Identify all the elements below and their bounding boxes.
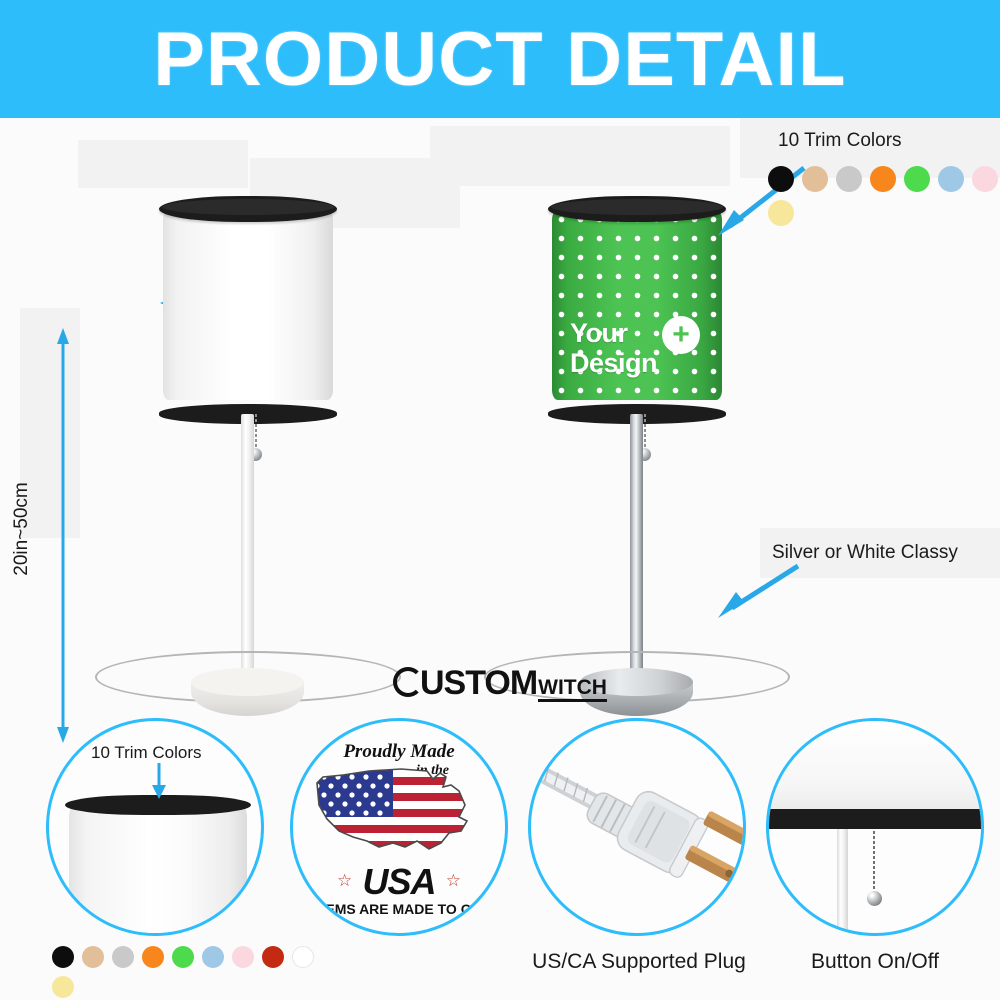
swatch-green[interactable] <box>172 946 194 968</box>
page-title: PRODUCT DETAIL <box>153 16 846 103</box>
feature-circle <box>766 718 984 936</box>
trim-colors-swatch-row-2 <box>768 200 794 226</box>
usa-map-flag-icon <box>309 761 489 859</box>
feature-caption: Button On/Off <box>766 950 984 974</box>
white-lamp <box>163 196 333 636</box>
lampshade-crop <box>69 803 247 936</box>
brand-logo: USTOM WITCH <box>0 655 1000 711</box>
pull-chain[interactable] <box>873 831 875 893</box>
star-left-icon: ☆ <box>337 871 352 891</box>
feature-inner-label: 10 Trim Colors <box>91 743 202 763</box>
green-design-lamp: Your Design + <box>552 196 722 636</box>
swatch-tan[interactable] <box>82 946 104 968</box>
trim-colors-swatch-row-1 <box>768 166 1000 192</box>
swatch-white[interactable] <box>292 946 314 968</box>
bg-panel <box>430 126 730 186</box>
lamp-pole <box>837 829 848 936</box>
design-line-1: Your <box>570 318 628 348</box>
swatch-black[interactable] <box>768 166 794 192</box>
height-dimension-label: 20in~50cm <box>11 449 33 609</box>
feature-circle: Proudly Made in the <box>290 718 508 936</box>
design-line-2: Design <box>570 348 657 378</box>
swatch-yellow[interactable] <box>52 976 74 998</box>
star-right-icon: ☆ <box>446 871 461 891</box>
us-plug-icon <box>531 721 743 933</box>
plug-feature: US/CA Supported Plug <box>528 718 750 1000</box>
feature-caption: US/CA Supported Plug <box>510 950 768 974</box>
bottom-swatch-row-1 <box>52 946 314 968</box>
made-in-usa-feature: Proudly Made in the <box>290 718 512 940</box>
main-stage: 7in~18cm 20in~50cm <box>0 118 1000 718</box>
swatch-pink[interactable] <box>232 946 254 968</box>
proudly-made-text: Proudly Made <box>343 741 454 763</box>
swatch-tan[interactable] <box>802 166 828 192</box>
swatch-green[interactable] <box>904 166 930 192</box>
swatch-gray[interactable] <box>836 166 862 192</box>
bottom-swatch-row-2 <box>52 976 74 998</box>
shade-trim-top-inner <box>551 199 723 215</box>
feature-circle: 10 Trim Colors <box>46 718 264 936</box>
shade-surface: Your Design + <box>552 210 722 400</box>
trim-pointer-arrow <box>149 763 169 799</box>
swatch-dark-red[interactable] <box>262 946 284 968</box>
add-design-plus-icon[interactable]: + <box>662 316 700 354</box>
lampshade-crop <box>766 721 984 811</box>
trim-colors-title: 10 Trim Colors <box>778 130 902 152</box>
shade-surface <box>163 210 333 400</box>
product-detail-page: PRODUCT DETAIL 7in~18cm 20in~50cm <box>0 0 1000 1000</box>
base-finish-pointer-arrow <box>706 558 804 620</box>
swatch-pink[interactable] <box>972 166 998 192</box>
trim-band <box>766 809 984 829</box>
pull-chain-ball[interactable] <box>867 891 882 906</box>
logo-c-icon <box>393 667 423 697</box>
logo-main-text: USTOM <box>420 664 537 703</box>
shade-trim-top-inner <box>162 199 334 215</box>
logo-sub-text: WITCH <box>538 677 607 702</box>
button-on-off-feature: Button On/Off <box>766 718 988 1000</box>
shade-trim-top <box>159 196 337 222</box>
trim-colors-feature: 10 Trim Colors <box>46 718 264 1000</box>
white-lampshade <box>163 196 333 416</box>
swatch-black[interactable] <box>52 946 74 968</box>
feature-circle <box>528 718 746 936</box>
usa-text: USA <box>362 861 435 903</box>
swatch-light-blue[interactable] <box>202 946 224 968</box>
swatch-light-blue[interactable] <box>938 166 964 192</box>
bg-panel <box>78 140 248 188</box>
swatch-yellow[interactable] <box>768 200 794 226</box>
swatch-orange[interactable] <box>870 166 896 192</box>
green-lampshade: Your Design + <box>552 196 722 416</box>
swatch-orange[interactable] <box>142 946 164 968</box>
header-banner: PRODUCT DETAIL <box>0 0 1000 118</box>
swatch-gray[interactable] <box>112 946 134 968</box>
made-to-order-text: ALL ITEMS ARE MADE TO ORDER! <box>290 901 508 917</box>
feature-row: 10 Trim Colors <box>0 712 1000 1000</box>
